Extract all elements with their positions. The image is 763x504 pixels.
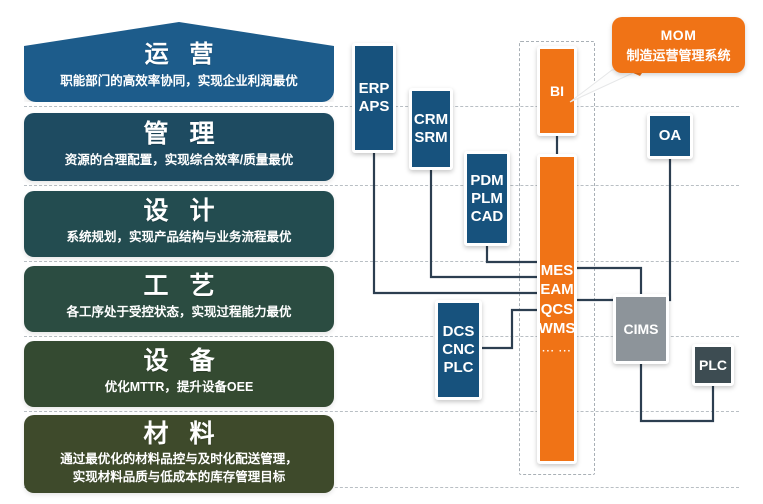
- level-title: 管 理: [137, 121, 222, 147]
- level-subtitle: 优化MTTR，提升设备OEE: [95, 378, 264, 396]
- system-box-label: PDM PLM CAD: [470, 172, 503, 226]
- level-panel-equipment[interactable]: 设 备 优化MTTR，提升设备OEE: [24, 341, 334, 407]
- level-title: 材 料: [137, 421, 222, 447]
- level-subtitle: 通过最优化的材料品控与及时化配送管理， 实现材料品质与低成本的库存管理目标: [50, 450, 308, 486]
- system-box-label: PLC: [699, 357, 727, 374]
- level-panel-manage[interactable]: 管 理 资源的合理配置，实现综合效率/质量最优: [24, 113, 334, 181]
- level-title: 设 备: [137, 348, 222, 374]
- level-subtitle: 各工序处于受控状态，实现过程能力最优: [56, 303, 301, 321]
- system-box-label: DCS CNC PLC: [442, 323, 475, 377]
- diagram-canvas: 运 营 职能部门的高效率协同，实现企业利润最优 管 理 资源的合理配置，实现综合…: [0, 0, 763, 504]
- level-subtitle: 资源的合理配置，实现综合效率/质量最优: [55, 151, 303, 169]
- system-box-label: ERP APS: [359, 80, 390, 116]
- system-box-cims[interactable]: CIMS: [613, 294, 669, 364]
- level-subtitle: 系统规划，实现产品结构与业务流程最优: [56, 228, 301, 246]
- system-box-ellipsis: ··· ···: [539, 346, 576, 358]
- system-box-label: CRM SRM: [414, 111, 448, 147]
- level-subtitle: 职能部门的高效率协同，实现企业利润最优: [50, 72, 308, 90]
- system-box-label: CIMS: [624, 321, 659, 338]
- level-panel-design[interactable]: 设 计 系统规划，实现产品结构与业务流程最优: [24, 191, 334, 257]
- system-box-plc[interactable]: PLC: [692, 344, 734, 386]
- level-panel-material[interactable]: 材 料 通过最优化的材料品控与及时化配送管理， 实现材料品质与低成本的库存管理目…: [24, 415, 334, 493]
- level-panel-process[interactable]: 工 艺 各工序处于受控状态，实现过程能力最优: [24, 266, 334, 332]
- system-box-mes[interactable]: MES EAM QCS WMS ··· ···: [537, 154, 577, 464]
- system-box-pdm[interactable]: PDM PLM CAD: [464, 151, 510, 246]
- level-title: 设 计: [137, 198, 222, 224]
- system-box-oa[interactable]: OA: [647, 113, 693, 159]
- system-box-dcs[interactable]: DCS CNC PLC: [435, 300, 482, 400]
- system-box-erp[interactable]: ERP APS: [352, 43, 396, 153]
- callout-subtitle: 制造运营管理系统: [626, 45, 730, 64]
- system-box-label: MES EAM QCS WMS: [539, 262, 576, 338]
- mom-callout[interactable]: MOM 制造运营管理系统: [612, 17, 745, 73]
- system-box-crm[interactable]: CRM SRM: [409, 88, 453, 170]
- level-title: 运 营: [138, 42, 221, 67]
- callout-title: MOM: [661, 27, 697, 43]
- level-title: 工 艺: [137, 273, 222, 299]
- system-box-label: OA: [659, 127, 682, 145]
